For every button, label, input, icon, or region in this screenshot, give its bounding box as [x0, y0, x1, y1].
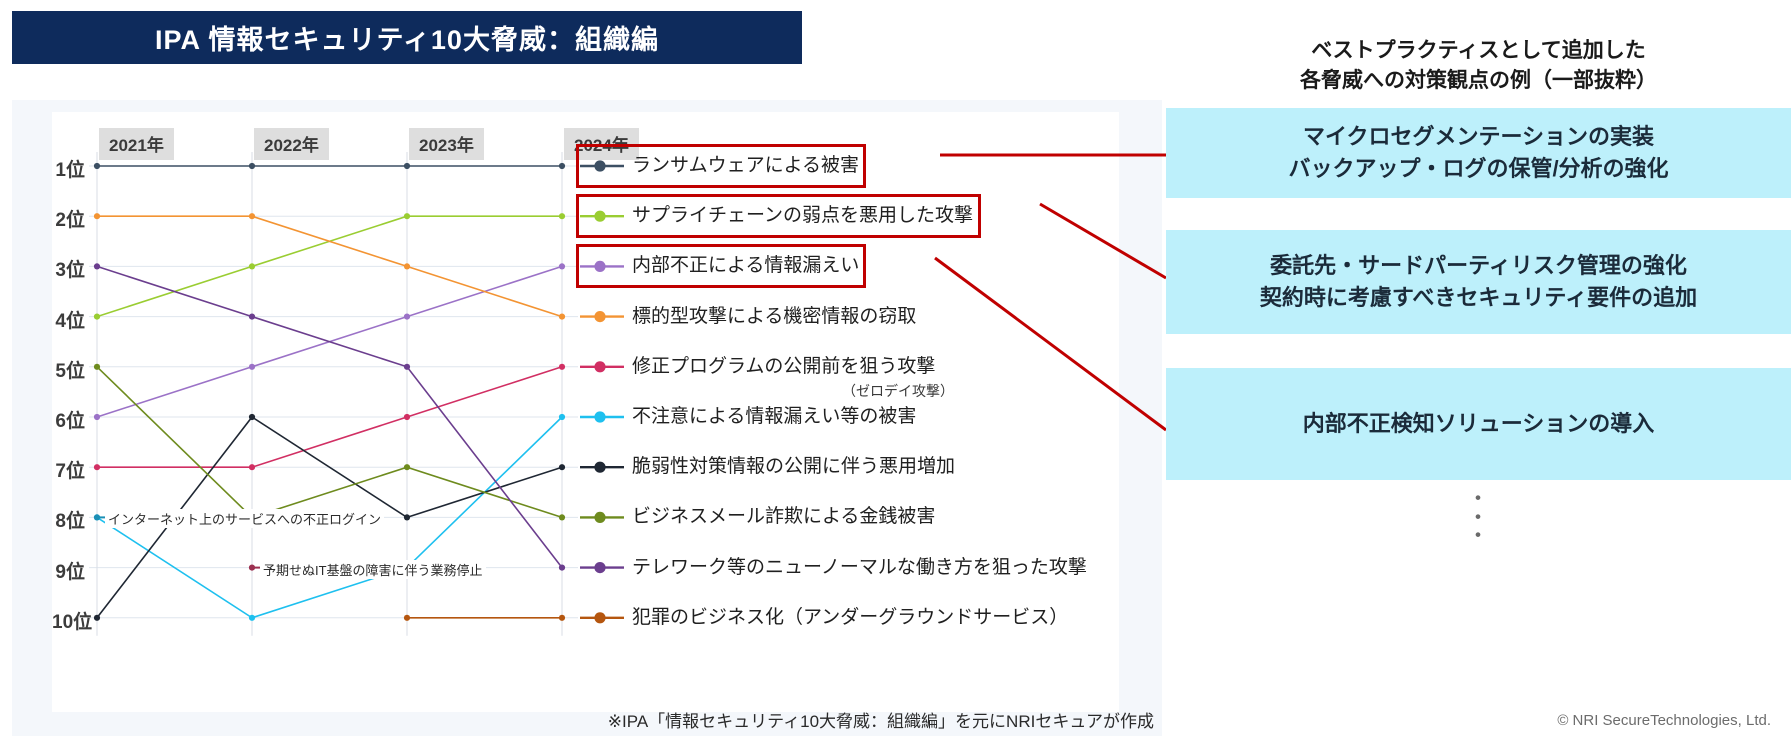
- best-practice-box-1[interactable]: マイクロセグメンテーションの実装 バックアップ・ログの保管/分析の強化: [1166, 108, 1791, 198]
- legend-label-10[interactable]: 犯罪のビジネス化（アンダーグラウンドサービス）: [632, 608, 1068, 627]
- best-practice-box-2-line2: 契約時に考慮すべきセキュリティ要件の追加: [1260, 282, 1697, 314]
- x-axis-year-label-2: 2022年: [254, 128, 329, 160]
- copyright-notice: © NRI SecureTechnologies, Ltd.: [1557, 712, 1771, 729]
- best-practice-heading: ベストプラクティスとして追加した 各脅威への対策観点の例（一部抜粋）: [1166, 36, 1791, 97]
- chart-panel: 2021年2022年2023年2024年1位2位3位4位5位6位7位8位9位10…: [12, 100, 1162, 736]
- best-practice-box-1-line2: バックアップ・ログの保管/分析の強化: [1288, 153, 1668, 185]
- slide-title-bar: IPA 情報セキュリティ10大脅威：組織編: [12, 11, 802, 64]
- y-axis-rank-label-9: 9位: [52, 557, 85, 584]
- inline-annotation-2: 予期せぬIT基盤の障害に伴う業務停止: [260, 560, 486, 579]
- best-practice-box-2-line1: 委託先・サードパーティリスク管理の強化: [1260, 250, 1697, 282]
- legend-label-7[interactable]: 脆弱性対策情報の公開に伴う悪用増加: [632, 457, 955, 476]
- y-axis-rank-label-8: 8位: [52, 506, 85, 533]
- best-practice-heading-line1: ベストプラクティスとして追加した: [1166, 36, 1791, 66]
- inline-annotation-1: インターネット上のサービスへの不正ログイン: [105, 509, 384, 528]
- legend-sublabel-5: （ゼロデイ攻撃）: [842, 381, 954, 401]
- y-axis-rank-label-6: 6位: [52, 406, 85, 433]
- highlight-box-2[interactable]: [576, 194, 981, 238]
- chart-source-note: ※IPA「情報セキュリティ10大脅威：組織編」を元にNRIセキュアが作成: [608, 707, 1154, 732]
- y-axis-rank-label-1: 1位: [52, 155, 85, 182]
- highlight-box-1[interactable]: [576, 144, 866, 188]
- y-axis-rank-label-10: 10位: [52, 607, 85, 634]
- y-axis-rank-label-7: 7位: [52, 456, 85, 483]
- chart-plot-card: 2021年2022年2023年2024年1位2位3位4位5位6位7位8位9位10…: [52, 112, 1119, 712]
- legend-label-6[interactable]: 不注意による情報漏えい等の被害: [632, 407, 916, 426]
- best-practice-panel: ベストプラクティスとして追加した 各脅威への対策観点の例（一部抜粋） マイクロセ…: [1166, 0, 1791, 750]
- vertical-ellipsis: ・・・: [1166, 490, 1791, 546]
- y-axis-rank-label-3: 3位: [52, 255, 85, 282]
- best-practice-heading-line2: 各脅威への対策観点の例（一部抜粋）: [1166, 66, 1791, 96]
- y-axis-rank-label-2: 2位: [52, 205, 85, 232]
- best-practice-box-3-line1: 内部不正検知ソリューションの導入: [1303, 408, 1655, 440]
- x-axis-year-label-3: 2023年: [409, 128, 484, 160]
- y-axis-rank-label-4: 4位: [52, 306, 85, 333]
- page-title: IPA 情報セキュリティ10大脅威：組織編: [155, 18, 659, 57]
- legend-label-9[interactable]: テレワーク等のニューノーマルな働き方を狙った攻撃: [632, 558, 1087, 577]
- best-practice-box-3[interactable]: 内部不正検知ソリューションの導入: [1166, 368, 1791, 480]
- highlight-box-3[interactable]: [576, 244, 866, 288]
- x-axis-year-label-1: 2021年: [99, 128, 174, 160]
- best-practice-box-2[interactable]: 委託先・サードパーティリスク管理の強化 契約時に考慮すべきセキュリティ要件の追加: [1166, 230, 1791, 334]
- best-practice-box-1-line1: マイクロセグメンテーションの実装: [1288, 121, 1668, 153]
- legend-label-5[interactable]: 修正プログラムの公開前を狙う攻撃: [632, 357, 935, 376]
- legend-label-8[interactable]: ビジネスメール詐欺による金銭被害: [632, 507, 935, 526]
- y-axis-rank-label-5: 5位: [52, 356, 85, 383]
- legend-label-4[interactable]: 標的型攻撃による機密情報の窃取: [632, 307, 916, 326]
